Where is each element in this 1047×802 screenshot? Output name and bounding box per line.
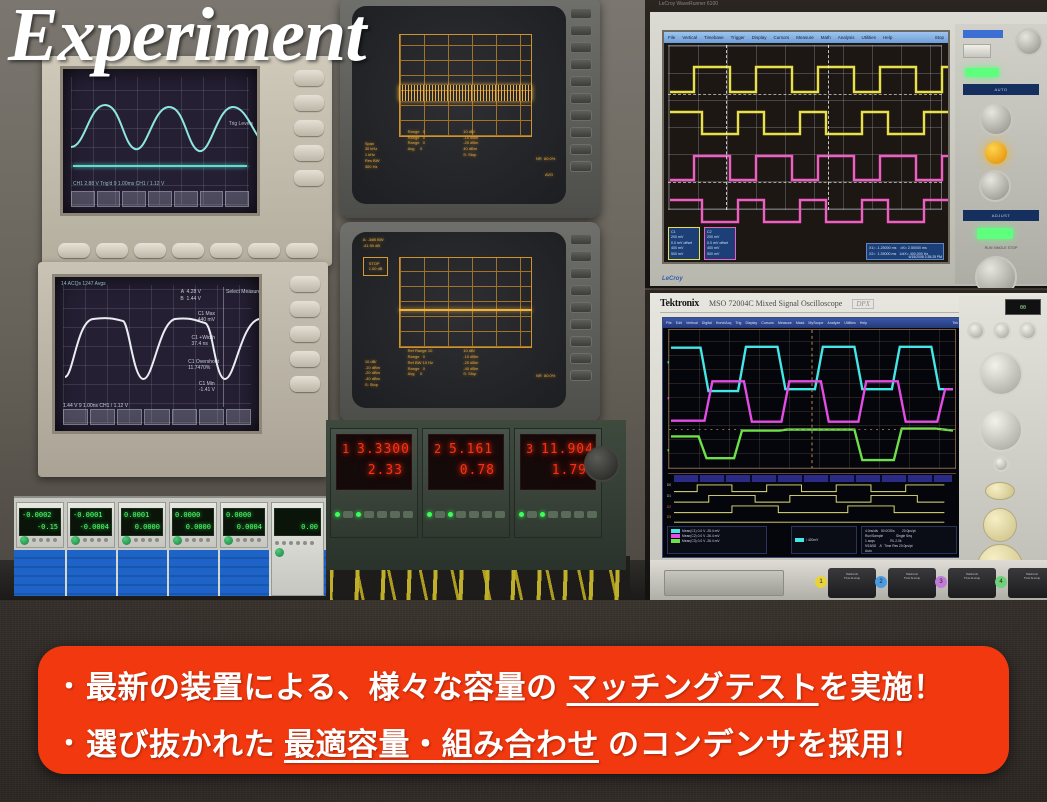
callout-line-1-pre: 最新の装置による、様々な容量の [86, 662, 558, 707]
tek-meas-3-label: Mean(C3) [682, 539, 697, 543]
psu-2-display: 2 5.161 0.78 [428, 434, 504, 490]
probe-3-number: 3 [935, 576, 947, 588]
tek-menu-help[interactable]: Help [860, 321, 867, 325]
bench-meter-2: -0.0001 -0.0004 [67, 502, 115, 548]
bezel-key[interactable] [570, 127, 592, 138]
tek-footer-panel: 1 Tektronix TCA-N-Amp 2 Tektronix TCA-N-… [650, 560, 1047, 600]
meter-4-top-value: 0.0000 [175, 511, 200, 519]
tek-chassis: Tektronix MSO 72004C Mixed Signal Oscill… [650, 293, 1047, 600]
tek-media-slot[interactable] [664, 570, 784, 596]
tek-probe-1[interactable]: 1 Tektronix TCA-N-Amp [828, 568, 876, 598]
meter-button[interactable] [243, 538, 247, 542]
front-panel-button[interactable] [96, 243, 128, 258]
tek-d1-label: D1 [667, 494, 671, 498]
tek-meas-3-value: 0.0 V [698, 539, 706, 543]
meter-button[interactable] [296, 541, 300, 545]
scope-bottom-softmenu[interactable] [63, 409, 251, 425]
softmenu-item[interactable] [71, 191, 95, 207]
callout-line-1-emphasis: マッチングテスト [567, 662, 819, 707]
menu-item-utilities[interactable]: Utilities [862, 35, 877, 40]
bullet-marker-2: ・ [56, 723, 86, 760]
callout-line-2-emphasis: 最適容量・組み合わせ [284, 719, 599, 764]
psu-1-controls[interactable] [335, 496, 413, 532]
meter-button[interactable] [192, 538, 196, 542]
meter-button[interactable] [257, 538, 261, 542]
meter-4-bottom-value: 0.0000 [186, 523, 211, 531]
softmenu-item[interactable] [200, 191, 224, 207]
tek-menu-file[interactable]: File [666, 321, 672, 325]
lecroy-front-panel: AUTO ADJUST RUN SINGLE STOP [955, 24, 1047, 284]
psu-3-controls[interactable] [519, 496, 597, 532]
meter-1-controls[interactable] [20, 535, 60, 545]
meter-button[interactable] [97, 538, 101, 542]
psu-button[interactable] [390, 511, 400, 518]
psu-2-channel: 2 [434, 442, 442, 456]
tek-front-panel: 00 [959, 296, 1047, 600]
tek-readout-bar: Mean(C1) 0.0 V -25.4 mV Mean(C2) 0.0 V -… [667, 526, 957, 554]
lecroy-screen: File Vertical Timebase Trigger Display C… [662, 30, 950, 264]
menu-item-trigger[interactable]: Trigger [731, 35, 745, 40]
tek-menu-edit[interactable]: Edit [676, 321, 682, 325]
power-supply-2: 2 5.161 0.78 [422, 428, 510, 538]
tek-menu-mask[interactable]: Mask [796, 321, 805, 325]
crt-monitor-top: Span 30 kHz 1 kHz Res BW 300 Hz Range 0 … [340, 0, 600, 218]
psu-button[interactable] [587, 511, 597, 518]
meter-1-top-value: -0.0002 [22, 511, 52, 519]
tek-menu-cursors[interactable]: Cursors [761, 321, 774, 325]
crt-top-status: NR 80.0% [536, 156, 555, 162]
crt-bottom-graticule [399, 257, 532, 349]
crt-top-left-labels: Span 30 kHz 1 kHz Res BW 300 Hz [365, 141, 380, 170]
power-button[interactable] [173, 536, 182, 545]
meter-5-bottom-value: 0.0004 [237, 523, 262, 531]
rotary-knob[interactable] [584, 446, 620, 482]
panel-knob-vertical[interactable] [979, 102, 1013, 136]
power-button[interactable] [275, 548, 284, 557]
psu-button[interactable] [469, 511, 479, 518]
meter-button[interactable] [289, 541, 293, 545]
meter-button[interactable] [199, 538, 203, 542]
rack-divider [269, 550, 271, 596]
callout-line-2-post: のコンデンサを採用！ [608, 719, 923, 764]
front-panel-button[interactable] [248, 243, 280, 258]
probe-4-label: Tektronix TCA-N-Amp [1010, 572, 1047, 580]
meter-2-controls[interactable] [71, 535, 111, 545]
scope-bottom-menu-title: Select Measurement [226, 289, 262, 295]
status-led [540, 512, 545, 517]
lecroy-cursor-x1[interactable] [726, 45, 727, 210]
meter-3-controls[interactable] [122, 535, 162, 545]
scope-bottom-softkeys[interactable] [290, 276, 324, 401]
status-led [335, 512, 340, 517]
softkey[interactable] [290, 376, 320, 392]
front-panel-button[interactable] [210, 243, 242, 258]
photo-lab-bench: CH1 2.88 V Trig'd 9 1.00ms CH1 / 1.12 V … [0, 0, 645, 600]
power-supply-1: 1 3.3300 2.33 [330, 428, 418, 538]
meter-button[interactable] [303, 541, 307, 545]
photo-tektronix-scope: Tektronix MSO 72004C Mixed Signal Oscill… [645, 290, 1047, 600]
psu-1-current: 2.33 [368, 463, 403, 478]
menu-item-timebase[interactable]: Timebase [704, 35, 724, 40]
crt-monitor-bottom: A: -3dB BW -41.90 dB STOP 1.00 dB 10 dB/… [340, 222, 600, 422]
status-led [519, 512, 524, 517]
menu-item-stop[interactable]: Stop [935, 35, 944, 40]
meter-4-controls[interactable] [173, 535, 213, 545]
scope-bottom-meas-3: C1 Overshoot 11.7470% [188, 359, 219, 371]
meter-button[interactable] [206, 538, 210, 542]
probe-4-number: 4 [995, 576, 1007, 588]
power-supply-rack: 1 3.3300 2.33 2 5.161 0.78 [326, 420, 626, 570]
scope-bottom-cursor-b: B 1.44 V [180, 296, 201, 302]
meter-button[interactable] [104, 538, 108, 542]
tek-button-autoset[interactable] [985, 482, 1015, 500]
tek-d2-label: D2 [667, 505, 671, 509]
tek-dpx-label: DPX [852, 299, 874, 309]
crt-bottom-bezel-keys[interactable] [570, 234, 594, 387]
tek-digital-traces [674, 484, 954, 526]
tek-knob-vertical-setup[interactable] [993, 322, 1011, 340]
tek-knob-fine-scale[interactable] [1019, 322, 1037, 340]
panel-blue-button[interactable] [963, 30, 1003, 38]
psu-2-controls[interactable] [427, 496, 505, 532]
bezel-key[interactable] [570, 25, 592, 36]
scope-top-softkeys[interactable] [294, 70, 328, 195]
menu-item-cursors[interactable]: Cursors [773, 35, 789, 40]
ch3-color-chip [671, 539, 680, 543]
bench-meter-6: 0.00 [271, 502, 324, 596]
psu-button[interactable] [456, 511, 466, 518]
softmenu-item[interactable] [172, 409, 197, 425]
scope-bottom-meas-1: C1 Max 440 mV [198, 311, 215, 323]
softmenu-item[interactable] [225, 191, 249, 207]
crt-bottom-corner-label: A: -3dB BW -41.90 dB [363, 237, 384, 249]
tek-menu-measure[interactable]: Measure [778, 321, 792, 325]
bezel-key[interactable] [570, 161, 592, 172]
meter-5-controls[interactable] [224, 535, 264, 545]
probe-2-number: 2 [875, 576, 887, 588]
meter-button[interactable] [83, 538, 87, 542]
scope-bottom-cursor-a: A 4.28 V [181, 289, 201, 295]
bezel-key[interactable] [570, 59, 592, 70]
ch1-color-chip [671, 529, 680, 533]
digital-scope-bottom: 14 ACQs 1247 Avgs A 4.28 V B 1.44 V C1 M… [38, 262, 328, 477]
tek-d0-label: D0 [667, 483, 671, 487]
scope-bottom-acq-label: 14 ACQs 1247 Avgs [61, 281, 106, 287]
scope-top-screen: CH1 2.88 V Trig'd 9 1.00ms CH1 / 1.12 V … [60, 66, 260, 216]
power-supply-3: 3 11.904 1.79 [514, 428, 602, 538]
psu-button[interactable] [482, 511, 492, 518]
psu-1-channel: 1 [342, 442, 350, 456]
bench-meter-4: 0.0000 0.0000 [169, 502, 217, 548]
tek-model-label: MSO 72004C Mixed Signal Oscilloscope [709, 299, 842, 308]
bezel-key[interactable] [570, 234, 592, 245]
softkey[interactable] [290, 351, 320, 367]
power-button[interactable] [20, 536, 29, 545]
tek-knob-position[interactable] [979, 408, 1023, 452]
softkey[interactable] [290, 276, 320, 292]
photo-lecroy-scope: LeCroy WaveRunner 6100 File Vertical Tim… [645, 0, 1047, 288]
tek-meas-1-value: 0.0 V [698, 529, 706, 533]
scope-top-softmenu[interactable] [71, 191, 249, 207]
meter-button[interactable] [39, 538, 43, 542]
lecroy-timestamp: 6/15/2008 2:35:25 PM [909, 255, 942, 259]
meter-3-top-value: 0.0001 [124, 511, 149, 519]
meter-button[interactable] [155, 538, 159, 542]
tektronix-logo: Tektronix [660, 298, 699, 309]
softmenu-item[interactable] [90, 409, 115, 425]
softkey[interactable] [294, 120, 324, 136]
panel-label-auto: AUTO [963, 84, 1039, 95]
meter-button[interactable] [90, 538, 94, 542]
scope-top-trig-label: Trig Levels [229, 121, 253, 127]
tek-digital-settings[interactable]: / 420mV [791, 526, 857, 554]
meter-1-display: -0.0002 -0.15 [19, 508, 61, 536]
callout-line-2: ・ 選び抜かれた 最適容量・組み合わせ のコンデンサを採用！ [56, 713, 999, 770]
meter-2-display: -0.0001 -0.0004 [70, 508, 112, 536]
front-panel-button[interactable] [286, 243, 318, 258]
softmenu-item[interactable] [174, 191, 198, 207]
panel-button-light[interactable] [963, 44, 991, 58]
power-button[interactable] [71, 536, 80, 545]
psu-button[interactable] [435, 511, 445, 518]
psu-button[interactable] [377, 511, 387, 518]
meter-5-display: 0.0000 0.0004 [223, 508, 265, 536]
psu-2-current: 0.78 [460, 463, 495, 478]
meter-6-controls[interactable] [275, 541, 320, 591]
tek-menu-utilities[interactable]: Utilities [844, 321, 856, 325]
meter-button[interactable] [185, 538, 189, 542]
probe-3-label: Tektronix TCA-N-Amp [950, 572, 994, 580]
tek-ch1-marker[interactable]: ◑ [666, 360, 670, 366]
tek-meas-2-delta: -26.4 mV [706, 534, 719, 538]
bench-meter-1: -0.0002 -0.15 [16, 502, 64, 548]
tek-probe-2[interactable]: 2 Tektronix TCA-N-Amp [888, 568, 936, 598]
tek-knob-scale[interactable] [979, 352, 1023, 396]
tek-ch3-marker[interactable]: ◑ [666, 448, 670, 454]
panel-amber-indicator[interactable] [985, 142, 1007, 164]
tek-knob-set-zero[interactable] [993, 456, 1009, 472]
menu-item-display[interactable]: Display [752, 35, 767, 40]
menu-item-math[interactable]: Math [821, 35, 831, 40]
psu-3-current: 1.79 [552, 463, 587, 478]
softkey[interactable] [294, 145, 324, 161]
callout-line-1: ・ 最新の装置による、様々な容量の マッチングテスト を実施！ [56, 656, 999, 713]
tek-menu-digital[interactable]: Digital [702, 321, 712, 325]
menu-item-file[interactable]: File [668, 35, 675, 40]
softmenu-item[interactable] [63, 409, 88, 425]
tek-ch2-marker[interactable]: ◑ [666, 396, 670, 402]
lecroy-trace-ch1-upper [670, 62, 948, 96]
meter-button[interactable] [250, 538, 254, 542]
tek-menubar[interactable]: File Edit Vertical Digital Horiz/Acq Tri… [663, 318, 961, 328]
panel-knob-main[interactable] [975, 256, 1017, 288]
crt-bottom-right-labels: 10 dB/ -10 dBm -20 dBm -40 dBm S: Stop [463, 348, 478, 377]
tek-menu-analyze[interactable]: Analyze [827, 321, 840, 325]
tek-menu-display[interactable]: Display [745, 321, 757, 325]
tek-numeric-display: 00 [1005, 299, 1041, 315]
front-panel-button[interactable] [134, 243, 166, 258]
lecroy-cursor-y1[interactable] [668, 94, 942, 95]
psu-button[interactable] [343, 511, 353, 518]
softmenu-item[interactable] [117, 409, 142, 425]
lecroy-chassis: File Vertical Timebase Trigger Display C… [650, 12, 1047, 286]
lecroy-ch2-badge[interactable]: C2 200 mV 0.0 mV offset 400 mV 500 mV [704, 227, 736, 260]
meter-2-bottom-value: -0.0004 [79, 523, 109, 531]
bezel-key[interactable] [570, 42, 592, 53]
meter-3-bottom-value: 0.0000 [135, 523, 160, 531]
menu-item-help[interactable]: Help [883, 35, 892, 40]
lecroy-trace-ch1-lower [670, 104, 948, 138]
front-panel-button[interactable] [58, 243, 90, 258]
psu-button[interactable] [364, 511, 374, 518]
tek-meas-2-value: 0.0 V [698, 534, 706, 538]
psu-button[interactable] [548, 511, 558, 518]
scope-bottom-meas-2: C1 +Width 37.4 ns [192, 335, 215, 347]
bezel-key[interactable] [570, 353, 592, 364]
tek-logo-small: Tek [952, 321, 958, 325]
status-led [448, 512, 453, 517]
meter-button[interactable] [53, 538, 57, 542]
crt-top-screen: Span 30 kHz 1 kHz Res BW 300 Hz Range 0 … [352, 6, 566, 204]
psu-button[interactable] [574, 511, 584, 518]
lecroy-top-caption: LeCroy WaveRunner 6100 [659, 1, 718, 7]
softmenu-item[interactable] [199, 409, 224, 425]
bezel-key[interactable] [570, 370, 592, 381]
bezel-key[interactable] [570, 319, 592, 330]
rack-divider [167, 550, 169, 596]
tek-waveform-area: ◑ ◑ ◑ [668, 329, 956, 469]
bezel-key[interactable] [570, 268, 592, 279]
bezel-key[interactable] [570, 93, 592, 104]
rack-divider [218, 550, 220, 596]
scope-bottom-meas-4: C1 Min -1.41 V [199, 381, 215, 393]
crt-top-footer: AVG [545, 172, 553, 178]
panel-green-indicator [965, 68, 999, 77]
psu-button[interactable] [403, 511, 413, 518]
menu-item-vertical[interactable]: Vertical [682, 35, 697, 40]
lecroy-cursor-x2[interactable] [828, 45, 829, 210]
meter-button[interactable] [148, 538, 152, 542]
meter-button[interactable] [46, 538, 50, 542]
meter-2-top-value: -0.0001 [73, 511, 103, 519]
waveform-trace-flat [73, 165, 247, 167]
psu-1-display: 1 3.3300 2.33 [336, 434, 412, 490]
digital-color-chip [795, 538, 804, 542]
meter-button[interactable] [310, 541, 314, 545]
tek-knob-keyboard[interactable] [967, 322, 985, 340]
tek-bus-decode [674, 475, 952, 482]
softkey[interactable] [294, 170, 324, 186]
softmenu-item[interactable] [226, 409, 251, 425]
crt-bottom-left-labels: 10 dB/ -10 dBm -20 dBm -40 dBm S: Stop [365, 359, 380, 388]
bezel-key[interactable] [570, 144, 592, 155]
crt-top-right-labels: 10 dB/ -10 dBm -20 dBm 40 dBm S: Stop [463, 129, 478, 158]
softkey[interactable] [290, 301, 320, 317]
psu-button[interactable] [495, 511, 505, 518]
bezel-key[interactable] [570, 8, 592, 19]
bench-meter-rack: -0.0002 -0.15 -0.0001 -0.0004 [14, 496, 326, 596]
tek-meas-2-label: Mean(C2) [682, 534, 697, 538]
softmenu-item[interactable] [144, 409, 169, 425]
tek-screen: File Edit Vertical Digital Horiz/Acq Tri… [662, 317, 962, 558]
crt-bottom-mid-labels: Ref Range 10 Range 0 Ref BW 10 Hz Range … [408, 348, 433, 377]
meter-3-display: 0.0001 0.0000 [121, 508, 163, 536]
menu-item-measure[interactable]: Measure [796, 35, 814, 40]
psu-2-voltage: 5.161 [449, 442, 493, 457]
bench-meter-3: 0.0001 0.0000 [118, 502, 166, 548]
lecroy-trace-ch2-upper [670, 150, 948, 184]
psu-button[interactable] [561, 511, 571, 518]
tek-knob-offset[interactable] [983, 508, 1017, 542]
status-led [427, 512, 432, 517]
lecroy-trace-ch2-lower [670, 192, 948, 226]
page-title: Experiment [8, 0, 365, 79]
bullet-marker-1: ・ [56, 666, 86, 703]
crt-bottom-marker-box: STOP 1.00 dB [363, 257, 389, 277]
scope-bottom-menu-panel[interactable]: Select Measurement [223, 287, 257, 407]
bezel-key[interactable] [570, 302, 592, 313]
psu-1-voltage: 3.3300 [357, 442, 410, 457]
probe-1-number: 1 [815, 576, 827, 588]
lecroy-cursor-y2[interactable] [668, 182, 942, 183]
bezel-key[interactable] [570, 336, 592, 347]
panel-knob-horizontal[interactable] [979, 170, 1011, 202]
meter-4-display: 0.0000 0.0000 [172, 508, 214, 536]
bezel-key[interactable] [570, 285, 592, 296]
bezel-key[interactable] [570, 251, 592, 262]
crt-bottom-trace [399, 309, 532, 311]
tek-acq-readout: 4.0ns/div 50.0GS/s 20.0ps/pt Run/Sample … [861, 526, 957, 554]
meter-button[interactable] [275, 541, 279, 545]
meter-button[interactable] [236, 538, 240, 542]
tek-probe-4[interactable]: 4 Tektronix TCA-N-Amp [1008, 568, 1047, 598]
scope-top-readout: CH1 2.88 V Trig'd 9 1.00ms CH1 / 1.12 V [73, 181, 164, 187]
tek-digital-threshold: / 420mV [806, 538, 818, 543]
softmenu-item[interactable] [97, 191, 121, 207]
meter-button[interactable] [282, 541, 286, 545]
front-panel-button[interactable] [172, 243, 204, 258]
lecroy-ch1-badge[interactable]: C1 200 mV 0.0 mV offset 400 mV 500 mV [668, 227, 700, 260]
menu-item-analysis[interactable]: Analysis [838, 35, 855, 40]
bezel-key[interactable] [570, 76, 592, 87]
power-button[interactable] [122, 536, 131, 545]
tek-readout-spacer [771, 526, 787, 554]
tek-menu-myscope[interactable]: MyScope [808, 321, 823, 325]
ch2-color-chip [671, 534, 680, 538]
psu-button[interactable] [527, 511, 537, 518]
scope-top-buttonrow[interactable] [58, 243, 318, 258]
softmenu-item[interactable] [148, 191, 172, 207]
softmenu-item[interactable] [122, 191, 146, 207]
meter-button[interactable] [134, 538, 138, 542]
meter-button[interactable] [141, 538, 145, 542]
crt-top-bezel-keys[interactable] [570, 8, 594, 178]
lecroy-menubar[interactable]: File Vertical Timebase Trigger Display C… [664, 32, 948, 43]
bezel-key[interactable] [570, 110, 592, 121]
digital-scope-top: CH1 2.88 V Trig'd 9 1.00ms CH1 / 1.12 V … [42, 56, 332, 266]
panel-label-run: RUN SINGLE STOP [963, 246, 1039, 250]
panel-knob-top[interactable] [1015, 28, 1043, 56]
tek-menu-trig[interactable]: Trig [735, 321, 741, 325]
tek-menu-vertical[interactable]: Vertical [686, 321, 698, 325]
power-button[interactable] [224, 536, 233, 545]
tek-measure-panel: Mean(C1) 0.0 V -25.4 mV Mean(C2) 0.0 V -… [667, 526, 767, 554]
softkey[interactable] [290, 326, 320, 342]
tek-menu-horizacq[interactable]: Horiz/Acq [716, 321, 732, 325]
meter-button[interactable] [32, 538, 36, 542]
softkey[interactable] [294, 95, 324, 111]
tek-probe-3[interactable]: 3 Tektronix TCA-N-Amp [948, 568, 996, 598]
